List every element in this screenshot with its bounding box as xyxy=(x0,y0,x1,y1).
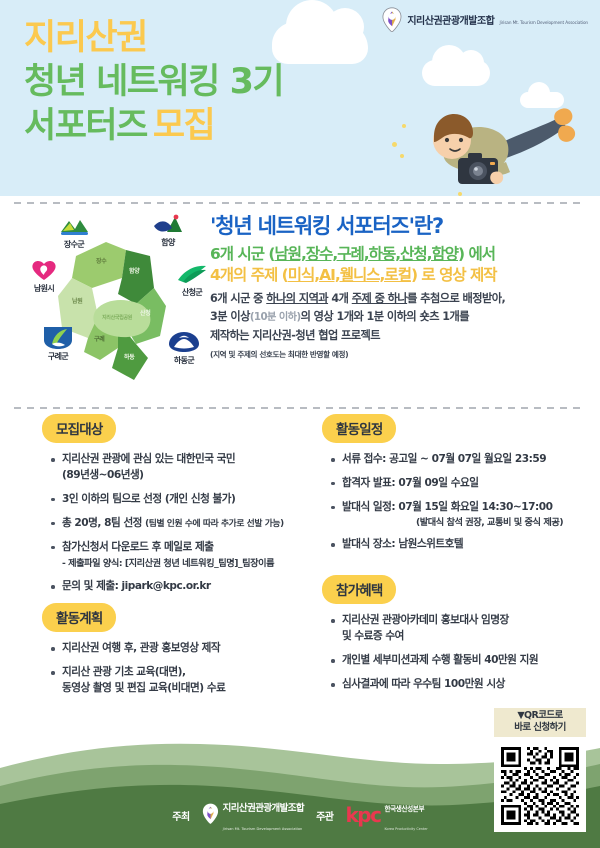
qr-label-line1: ▼QR코드로 xyxy=(494,710,586,723)
intro-body-line-1: 6개 시군 중 하나의 지역과 4개 주제 중 하나를 추첨으로 배정받아, xyxy=(210,290,588,308)
intro-body-2b: 의 영상 1개와 1분 이하의 숏츠 1개를 xyxy=(301,310,469,323)
intro-line-2: 4개의 주제 (미식,AI,웰니스,로컬) 로 영상 제작 xyxy=(210,265,588,285)
intro-text: '청년 네트워킹 서포터즈'란? 6개 시군 (남원,장수,구례,하동,산청,함… xyxy=(210,214,588,360)
gurye-emblem-icon xyxy=(30,326,86,350)
title-line-1: 지리산권 xyxy=(24,16,424,60)
item-sub: (89년생~06년생) xyxy=(62,468,322,484)
intro-body-1a: 6개 시군 중 xyxy=(210,292,266,305)
item-text: 심사결과에 따라 우수팀 100만원 시상 xyxy=(342,678,505,690)
namwon-emblem-icon xyxy=(16,258,72,282)
intro-body-2paren: (10분 이하) xyxy=(250,312,301,323)
section-title-plan: 활동계획 xyxy=(42,603,116,632)
footer-organizer-logo: kpc 한국생산성본부 Korea Productivity Center xyxy=(345,796,427,834)
section-schedule: 활동일정 서류 접수: 공고일 ~ 07월 07일 월요일 23:59 합격자 … xyxy=(322,414,592,553)
footer-logos: 주최 지리산권관광개발조합 Jirisan Mt. Tourism Develo… xyxy=(0,796,600,834)
footer-organizer-word: 주관 xyxy=(316,808,333,823)
footer-organizer-name-ko: 한국생산성본부 xyxy=(384,805,424,813)
title-line-3a: 서포터즈 xyxy=(24,106,147,146)
emblem-name: 남원시 xyxy=(16,283,72,294)
jangsu-emblem-icon xyxy=(46,214,102,238)
map-label-hadong: 하동 xyxy=(124,352,134,361)
qr-label-line2: 바로 신청하기 xyxy=(494,722,586,735)
item-text: 지리산권 여행 후, 관광 홍보영상 제작 xyxy=(62,642,220,654)
item-text: 참가신청서 다운로드 후 메일로 제출 xyxy=(62,541,213,553)
intro-line2-themes: 미식,AI,웰니스,로컬 xyxy=(288,266,411,284)
item-text: 발대식 일정: 07월 15일 화요일 14:30~17:00 xyxy=(342,501,552,513)
location-pin-icon xyxy=(202,803,219,828)
item-text: 개인별 세부미션과제 수행 활동비 40만원 지원 xyxy=(342,654,538,666)
section-plan: 활동계획 지리산권 여행 후, 관광 홍보영상 제작 지리산 관광 기초 교육(… xyxy=(42,603,322,697)
map-label-jangsu: 장수 xyxy=(96,256,106,265)
list-item: 지리산권 관광에 관심 있는 대한민국 국민(89년생~06년생) xyxy=(48,452,322,484)
emblem-name: 하동군 xyxy=(156,355,212,366)
intro-line-1: 6개 시군 (남원,장수,구례,하동,산청,함양) 에서 xyxy=(210,244,588,264)
poster-header: 지리산권관광개발조합 Jirisan Mt. Tourism Developme… xyxy=(0,0,600,196)
map-label-namwon: 남원 xyxy=(72,296,82,305)
list-item: 3인 이하의 팀으로 선정 (개인 신청 불가) xyxy=(48,492,322,508)
region-map: 장수 함양 남원 산청 구례 하동 지리산국립공원 장수군 함양 xyxy=(14,212,204,402)
footer-host-name-en: Jirisan Mt. Tourism Development Associat… xyxy=(223,827,303,831)
divider-dashed-top xyxy=(14,202,586,204)
list-item: 발대식 일정: 07월 15일 화요일 14:30~17:00(발대식 참석 권… xyxy=(328,500,592,530)
list-item: 합격자 발표: 07월 09일 수요일 xyxy=(328,476,592,492)
list-item: 참가신청서 다운로드 후 메일로 제출- 제출파일 양식: [지리산권 청년 네… xyxy=(48,540,322,572)
list-item: 심사결과에 따라 우수팀 100만원 시상 xyxy=(328,677,592,693)
map-label-hamyang: 함양 xyxy=(129,266,139,275)
item-sub: 및 수료증 수여 xyxy=(342,629,592,645)
title-line-2: 청년 네트워킹 3기 xyxy=(24,60,424,104)
list-item: 개인별 세부미션과제 수행 활동비 40만원 지원 xyxy=(328,653,592,669)
association-name-en: Jirisan Mt. Tourism Development Associat… xyxy=(499,20,588,25)
item-tiny: (팀별 인원 수에 따라 추가로 선발 가능) xyxy=(145,519,284,529)
item-email[interactable]: 문의 및 제출: jipark@kpc.or.kr xyxy=(62,580,211,592)
intro-line2-pre: 4개의 주제 ( xyxy=(210,266,288,284)
section-title-benefits: 참가혜택 xyxy=(322,575,396,604)
poster-title: 지리산권 청년 네트워킹 3기 서포터즈모집 xyxy=(24,16,424,148)
list-item: 지리산 관광 기초 교육(대면),동영상 촬영 및 편집 교육(비대면) 수료 xyxy=(48,665,322,697)
emblem-namwon: 남원시 xyxy=(16,258,72,294)
section-title-target: 모집대상 xyxy=(42,414,116,443)
intro-section: 장수 함양 남원 산청 구례 하동 지리산국립공원 장수군 함양 xyxy=(0,196,600,414)
qr-label: ▼QR코드로 바로 신청하기 xyxy=(494,708,586,737)
info-sections: 모집대상 지리산권 관광에 관심 있는 대한민국 국민(89년생~06년생) 3… xyxy=(0,414,600,754)
intro-line1-pre: 6개 시군 ( xyxy=(210,245,274,263)
item-text: 지리산권 관광에 관심 있는 대한민국 국민 xyxy=(62,453,235,465)
emblem-name: 장수군 xyxy=(46,239,102,250)
poster-root: 지리산권관광개발조합 Jirisan Mt. Tourism Developme… xyxy=(0,0,600,848)
intro-line2-post: ) 로 영상 제작 xyxy=(411,266,497,284)
item-text: 지리산 관광 기초 교육(대면), xyxy=(62,666,185,678)
item-text: 합격자 발표: 07월 09일 수요일 xyxy=(342,477,478,489)
item-text: 3인 이하의 팀으로 선정 (개인 신청 불가) xyxy=(62,493,235,505)
footer-host-logo: 지리산권관광개발조합 Jirisan Mt. Tourism Developme… xyxy=(202,796,304,834)
hamyang-emblem-icon xyxy=(140,212,196,236)
divider-dashed-bottom xyxy=(14,407,586,409)
list-item: 발대식 장소: 남원스위트호텔 xyxy=(328,537,592,553)
emblem-name: 함양 xyxy=(140,237,196,248)
emblem-name: 구례군 xyxy=(30,351,86,362)
section-title-schedule: 활동일정 xyxy=(322,414,396,443)
emblem-jangsu: 장수군 xyxy=(46,214,102,250)
emblem-hadong: 하동군 xyxy=(156,330,212,366)
intro-question: '청년 네트워킹 서포터즈'란? xyxy=(210,214,588,239)
right-column: 활동일정 서류 접수: 공고일 ~ 07월 07일 월요일 23:59 합격자 … xyxy=(322,414,592,701)
intro-body-line-3: 제작하는 지리산권-청년 협업 프로젝트 xyxy=(210,327,588,345)
kpc-wordmark: kpc xyxy=(345,805,380,825)
cloud-icon xyxy=(422,60,490,86)
photographer-illustration xyxy=(406,96,586,196)
section-target: 모집대상 지리산권 관광에 관심 있는 대한민국 국민(89년생~06년생) 3… xyxy=(42,414,322,595)
list-item: 문의 및 제출: jipark@kpc.or.kr xyxy=(48,579,322,595)
intro-body: 6개 시군 중 하나의 지역과 4개 주제 중 하나를 추첨으로 배정받아, 3… xyxy=(210,290,588,345)
map-label-sancheong: 산청 xyxy=(140,308,150,317)
intro-body-1c: 를 추첨으로 배정받아, xyxy=(407,292,505,305)
list-item: 지리산권 여행 후, 관광 홍보영상 제작 xyxy=(48,641,322,657)
intro-body-1b: 4개 xyxy=(328,292,352,305)
item-filename-format: - 제출파일 양식: [지리산권 청년 네트워킹_팀명]_팀장이름 xyxy=(62,557,322,571)
list-item: 총 20명, 8팀 선정 (팀별 인원 수에 따라 추가로 선발 가능) xyxy=(48,516,322,532)
item-text: 지리산권 관광아카데미 홍보대사 임명장 xyxy=(342,614,509,626)
item-indent-note: (발대식 참석 권장, 교통비 및 중식 제공) xyxy=(342,516,592,530)
list-item: 서류 접수: 공고일 ~ 07월 07일 월요일 23:59 xyxy=(328,452,592,468)
map-label-national-park: 지리산국립공원 xyxy=(102,314,132,321)
intro-body-1u1: 하나의 지역과 xyxy=(266,292,328,305)
intro-line1-regions: 남원,장수,구례,하동,산청,함양 xyxy=(274,245,458,263)
intro-note: (지역 및 주제의 선호도는 최대한 반영할 예정) xyxy=(210,349,588,360)
footer-host-name-ko: 지리산권관광개발조합 xyxy=(223,803,304,814)
hadong-emblem-icon xyxy=(156,330,212,354)
footer-organizer-name-en: Korea Productivity Center xyxy=(384,827,427,831)
item-text: 총 20명, 8팀 선정 xyxy=(62,517,145,529)
list-item: 지리산권 관광아카데미 홍보대사 임명장및 수료증 수여 xyxy=(328,613,592,645)
intro-body-line-2: 3분 이상(10분 이하)의 영상 1개와 1분 이하의 숏츠 1개를 xyxy=(210,308,588,327)
item-text: 서류 접수: 공고일 ~ 07월 07일 월요일 23:59 xyxy=(342,453,546,465)
intro-body-2a: 3분 이상 xyxy=(210,310,250,323)
emblem-gurye: 구례군 xyxy=(30,326,86,362)
section-benefits: 참가혜택 지리산권 관광아카데미 홍보대사 임명장및 수료증 수여 개인별 세부… xyxy=(322,575,592,693)
intro-line1-post: ) 에서 xyxy=(458,245,495,263)
item-sub: 동영상 촬영 및 편집 교육(비대면) 수료 xyxy=(62,681,322,697)
footer-host-word: 주최 xyxy=(172,808,189,823)
intro-body-1u2: 주제 중 하나 xyxy=(352,292,407,305)
map-label-gurye: 구례 xyxy=(94,334,104,343)
item-text: 발대식 장소: 남원스위트호텔 xyxy=(342,538,463,550)
title-line-3b: 모집 xyxy=(153,106,214,146)
emblem-hamyang: 함양 xyxy=(140,212,196,248)
left-column: 모집대상 지리산권 관광에 관심 있는 대한민국 국민(89년생~06년생) 3… xyxy=(42,414,322,705)
